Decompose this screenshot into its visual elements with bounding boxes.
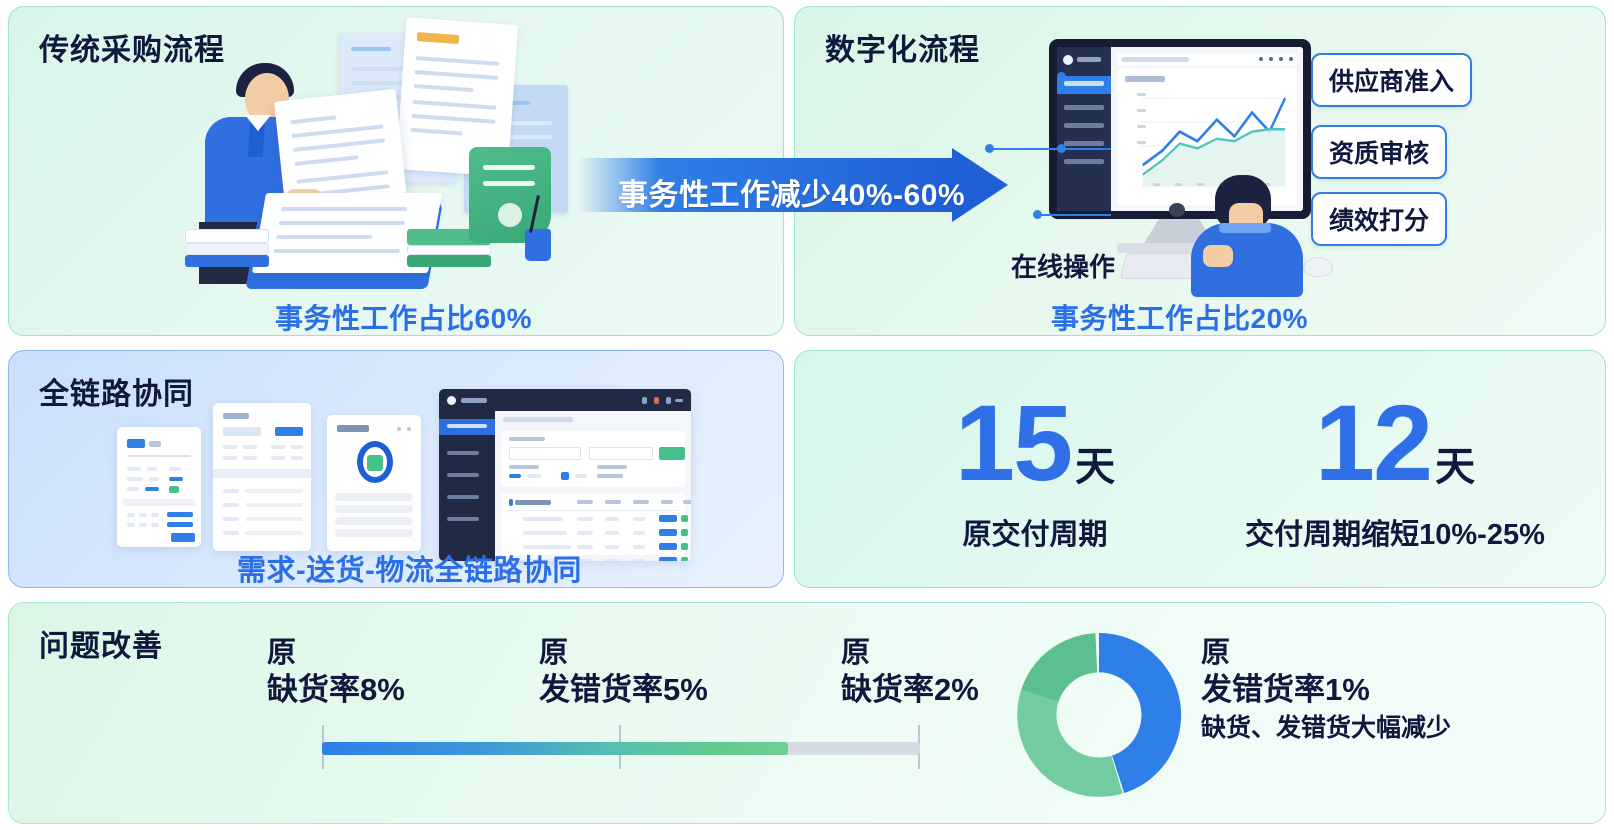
improve-label-3: 原	[841, 635, 979, 671]
callout-line-2	[991, 148, 1111, 150]
sidebar-item-2[interactable]	[1064, 123, 1104, 128]
metric-original-label: 原交付周期	[895, 511, 1175, 553]
ring-center-icon	[367, 455, 383, 471]
select-field[interactable]	[509, 447, 581, 460]
infographic-board: 传统采购流程	[0, 0, 1614, 830]
sidebar-item-1[interactable]	[1064, 105, 1104, 110]
dashboard-card-title	[1125, 76, 1165, 82]
donut-slice-green-light	[1017, 690, 1122, 797]
online-operation-label: 在线操作	[1011, 247, 1115, 284]
panel-chain-title: 全链路协同	[39, 369, 194, 413]
metric-original-unit: 天	[1075, 434, 1115, 492]
topbar-icon-4[interactable]	[1289, 57, 1293, 61]
mock-logistics-card	[327, 415, 421, 551]
dashboard-sidebar	[439, 411, 495, 561]
monitor-logo-icon	[1169, 203, 1185, 217]
mouse-device	[1303, 257, 1333, 277]
seated-person-collar	[1219, 223, 1271, 233]
mock-list-card	[213, 403, 311, 551]
dashboard-titlebar	[439, 389, 691, 411]
dashboard-body	[495, 411, 691, 561]
metric-shortened-label: 交付周期缩短10%-25%	[1195, 511, 1595, 553]
arrow-banner: 事务性工作减少40%-60%	[578, 148, 1008, 222]
improve-value-2: 发错货率5%	[539, 671, 708, 710]
metric-shortened-cycle: 12天 交付周期缩短10%-25%	[1195, 389, 1595, 553]
donut-chart-svg	[1010, 626, 1188, 804]
panel-traditional-title: 传统采购流程	[39, 25, 225, 69]
topbar-icon-2[interactable]	[1269, 57, 1273, 61]
improve-note-4: 缺货、发错货大幅减少	[1201, 712, 1451, 745]
y-tick-4	[1137, 141, 1146, 144]
donut-slice-green-mid	[1021, 633, 1097, 702]
callout-line-3	[1039, 214, 1111, 216]
panel-digital-title: 数字化流程	[825, 25, 980, 69]
improve-block-3: 原 缺货率2%	[841, 635, 979, 710]
y-tick-2	[1137, 109, 1146, 112]
app-sidebar	[1057, 47, 1111, 211]
mock-dashboard	[439, 389, 691, 561]
panel-problem-improvement: 问题改善 原 缺货率8% 原 发错货率5% 原 缺货率2% 原 发错货率1% 缺…	[8, 602, 1606, 824]
callout-performance-score[interactable]: 绩效打分	[1311, 192, 1447, 246]
app-logo-icon	[1063, 55, 1073, 65]
panel-delivery-cycle: 15天 原交付周期 12天 交付周期缩短10%-25%	[794, 350, 1606, 588]
digital-caption: 事务性工作占比20%	[1051, 297, 1308, 336]
improve-value-1: 缺货率8%	[267, 671, 405, 710]
metric-shortened-unit: 天	[1435, 434, 1475, 492]
metric-original-cycle: 15天 原交付周期	[895, 389, 1175, 553]
progress-fill	[322, 742, 788, 755]
improve-block-4: 原 发错货率1% 缺货、发错货大幅减少	[1201, 635, 1451, 745]
topbar-icon-3[interactable]	[1279, 57, 1283, 61]
dashboard-line-chart	[1133, 91, 1289, 189]
improvement-progress-bar[interactable]	[322, 737, 920, 757]
topbar-icon-1[interactable]	[1259, 57, 1263, 61]
mock-form-card	[117, 427, 201, 547]
dashboard-card	[1117, 69, 1297, 205]
line-chart-svg	[1133, 91, 1289, 189]
improve-label-1: 原	[267, 635, 405, 671]
app-content	[1111, 47, 1303, 211]
y-tick-1	[1137, 93, 1146, 96]
app-topbar	[1117, 53, 1297, 65]
sidebar-item-label-active	[1064, 81, 1104, 86]
app-logo-text	[1077, 57, 1101, 62]
text-field[interactable]	[589, 447, 653, 460]
sidebar-item-3[interactable]	[1064, 141, 1104, 146]
filter-card	[501, 431, 685, 487]
x-tick-1	[1153, 183, 1160, 186]
pen-holder	[525, 229, 551, 261]
callout-qualification-review[interactable]: 资质审核	[1311, 125, 1447, 179]
traditional-caption: 事务性工作占比60%	[275, 297, 532, 336]
x-tick-3	[1197, 183, 1204, 186]
improve-value-3: 缺货率2%	[841, 671, 979, 710]
seated-person-hand	[1203, 245, 1233, 267]
metric-shortened-number: 12	[1315, 389, 1431, 497]
sidebar-item-4[interactable]	[1064, 159, 1104, 164]
data-table	[501, 493, 685, 555]
submit-button[interactable]	[659, 447, 685, 460]
panel-improve-title: 问题改善	[39, 621, 163, 665]
metric-original-number: 15	[955, 389, 1071, 497]
improve-value-4: 发错货率1%	[1201, 671, 1451, 710]
improve-label-4: 原	[1201, 635, 1451, 671]
donut-chart	[1010, 626, 1188, 804]
callout-supplier-access[interactable]: 供应商准入	[1311, 53, 1472, 107]
improve-block-2: 原 发错货率5%	[539, 635, 708, 710]
arrow-label: 事务性工作减少40%-60%	[618, 170, 965, 214]
improve-label-2: 原	[539, 635, 708, 671]
chain-caption: 需求-送货-物流全链路协同	[237, 547, 582, 588]
search-bar[interactable]	[1121, 57, 1189, 62]
x-tick-2	[1175, 183, 1182, 186]
desktop-monitor	[1049, 39, 1311, 219]
y-tick-3	[1137, 125, 1146, 128]
improve-block-1: 原 缺货率8%	[267, 635, 405, 710]
callout-line-1	[1063, 76, 1111, 78]
panel-full-chain-collaboration: 全链路协同	[8, 350, 784, 588]
